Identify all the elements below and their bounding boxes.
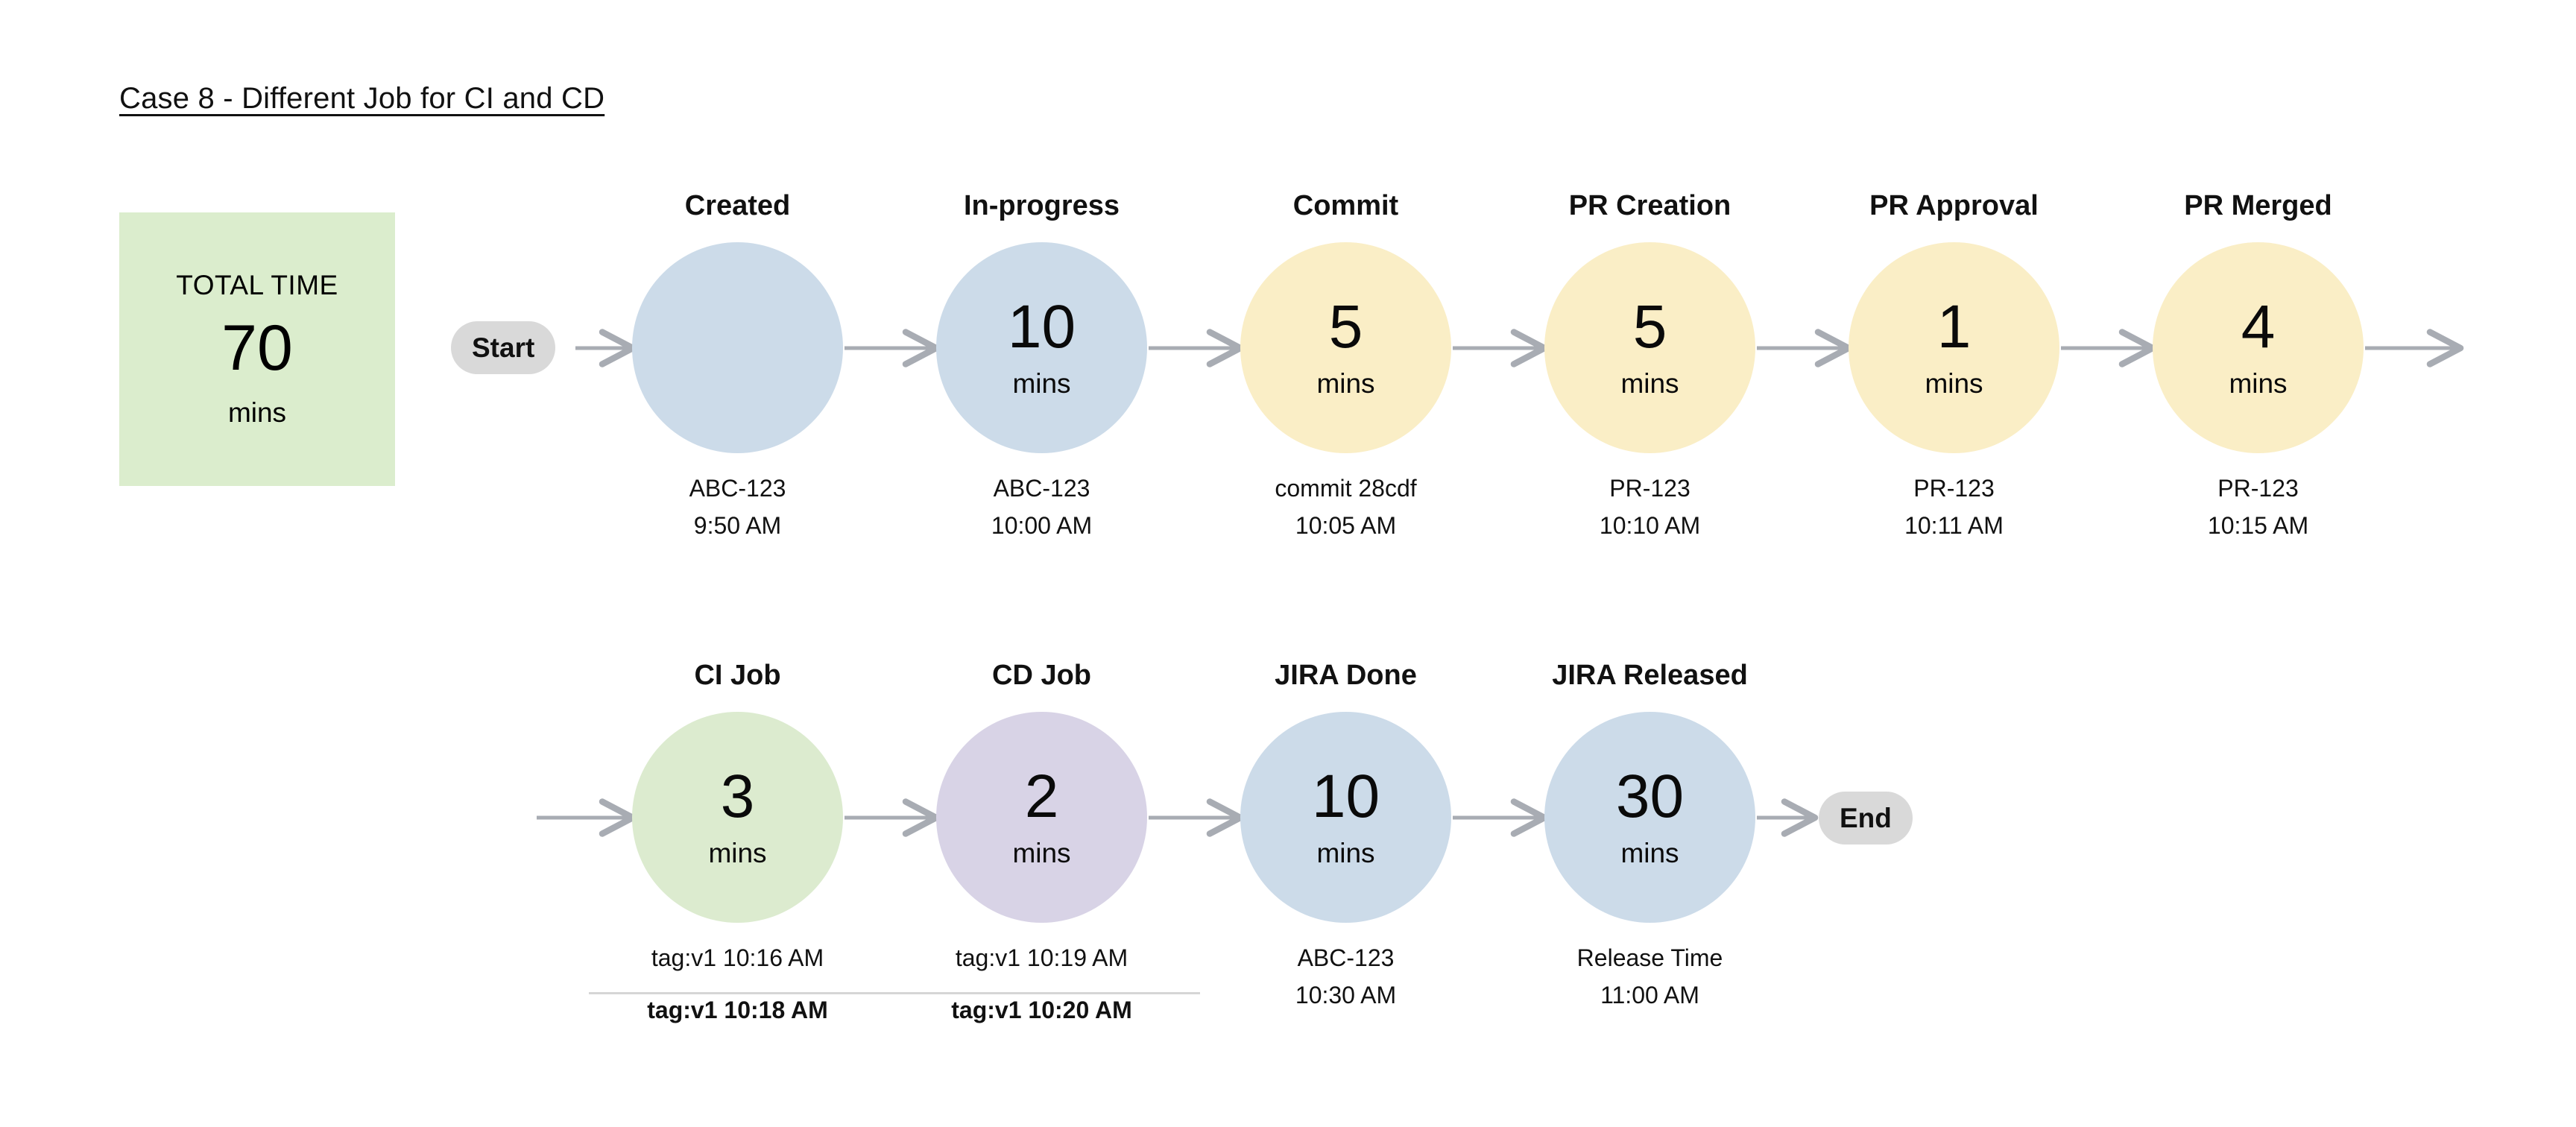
node-meta-line: commit 28cdf xyxy=(1275,470,1416,508)
node-value: 30 xyxy=(1616,766,1684,827)
node-meta: ABC-123 10:30 AM xyxy=(1295,940,1396,1014)
node-unit: mins xyxy=(1620,838,1679,869)
node-meta-line: PR-123 xyxy=(1904,470,2004,508)
node-value: 5 xyxy=(1329,297,1363,358)
node-meta-line: ABC-123 xyxy=(991,470,1092,508)
node-meta-line: 10:15 AM xyxy=(2208,508,2308,545)
node-meta-line: 10:05 AM xyxy=(1275,508,1416,545)
node-value: 10 xyxy=(1312,766,1380,827)
flow-arrows xyxy=(0,0,2576,1127)
node-circle[interactable]: 5 mins xyxy=(1544,242,1755,453)
node-value: 10 xyxy=(1008,297,1076,358)
node-value: 4 xyxy=(2241,297,2276,358)
node-meta-line: 9:50 AM xyxy=(689,508,786,545)
node-value: 2 xyxy=(1025,766,1059,827)
node-meta-line: ABC-123 xyxy=(1295,940,1396,977)
node-value: 1 xyxy=(1937,297,1972,358)
node-unit: mins xyxy=(708,838,766,869)
node-title: PR Creation xyxy=(1569,190,1731,222)
node-unit: mins xyxy=(2229,368,2287,400)
node-value: 5 xyxy=(1633,297,1667,358)
diagram-canvas: Case 8 - Different Job for CI and CD TOT… xyxy=(0,0,2576,1127)
node-title: JIRA Done xyxy=(1275,660,1417,692)
node-title: PR Approval xyxy=(1869,190,2039,222)
node-meta-line: tag:v1 10:20 AM xyxy=(951,992,1131,1029)
node-meta: PR-123 10:15 AM xyxy=(2208,470,2308,544)
node-meta-line: 10:10 AM xyxy=(1600,508,1700,545)
node-meta: PR-123 10:11 AM xyxy=(1904,470,2004,544)
end-badge[interactable]: End xyxy=(1819,792,1913,845)
node-meta-line: tag:v1 10:18 AM xyxy=(647,992,827,1029)
node-title: In-progress xyxy=(964,190,1120,222)
node-meta: Release Time 11:00 AM xyxy=(1577,940,1723,1014)
node-circle[interactable]: 10 mins xyxy=(1240,712,1451,923)
node-unit: mins xyxy=(1316,368,1374,400)
node-meta: tag:v1 10:19 AM tag:v1 10:20 AM xyxy=(951,940,1131,1029)
node-unit: mins xyxy=(1620,368,1679,400)
node-unit: mins xyxy=(1316,838,1374,869)
node-title: CI Job xyxy=(694,660,780,692)
node-meta-line: 10:00 AM xyxy=(991,508,1092,545)
node-meta-line: 10:11 AM xyxy=(1904,508,2004,545)
node-circle[interactable]: 3 mins xyxy=(632,712,843,923)
node-circle[interactable]: 30 mins xyxy=(1544,712,1755,923)
node-circle[interactable]: 10 mins xyxy=(936,242,1147,453)
node-meta: PR-123 10:10 AM xyxy=(1600,470,1700,544)
node-title: CD Job xyxy=(992,660,1091,692)
total-time-label: TOTAL TIME xyxy=(176,270,338,301)
node-title: PR Merged xyxy=(2184,190,2332,222)
start-badge[interactable]: Start xyxy=(451,321,555,374)
node-title: Commit xyxy=(1293,190,1398,222)
total-time-card: TOTAL TIME 70 mins xyxy=(119,212,395,486)
job-meta-divider xyxy=(589,992,1200,994)
node-meta-line: PR-123 xyxy=(2208,470,2308,508)
node-meta-line: Release Time xyxy=(1577,940,1723,977)
node-unit: mins xyxy=(1012,368,1070,400)
node-meta-line: ABC-123 xyxy=(689,470,786,508)
node-unit: mins xyxy=(1925,368,1983,400)
node-circle[interactable]: 2 mins xyxy=(936,712,1147,923)
total-time-unit: mins xyxy=(228,397,286,429)
node-meta: ABC-123 9:50 AM xyxy=(689,470,786,544)
node-circle[interactable]: 4 mins xyxy=(2153,242,2364,453)
node-title: JIRA Released xyxy=(1552,660,1748,692)
node-circle[interactable]: 1 mins xyxy=(1849,242,2059,453)
node-meta-line: 10:30 AM xyxy=(1295,977,1396,1014)
node-circle[interactable]: 5 mins xyxy=(1240,242,1451,453)
node-meta: ABC-123 10:00 AM xyxy=(991,470,1092,544)
node-value: 3 xyxy=(721,766,755,827)
page-title: Case 8 - Different Job for CI and CD xyxy=(119,82,604,116)
total-time-value: 70 xyxy=(221,309,293,389)
node-meta: commit 28cdf 10:05 AM xyxy=(1275,470,1416,544)
node-meta-line: tag:v1 10:19 AM xyxy=(951,940,1131,977)
node-meta: tag:v1 10:16 AM tag:v1 10:18 AM xyxy=(647,940,827,1029)
node-circle[interactable] xyxy=(632,242,843,453)
node-meta-line: 11:00 AM xyxy=(1577,977,1723,1014)
node-unit: mins xyxy=(1012,838,1070,869)
node-meta-line: tag:v1 10:16 AM xyxy=(647,940,827,977)
node-title: Created xyxy=(685,190,791,222)
node-meta-line: PR-123 xyxy=(1600,470,1700,508)
